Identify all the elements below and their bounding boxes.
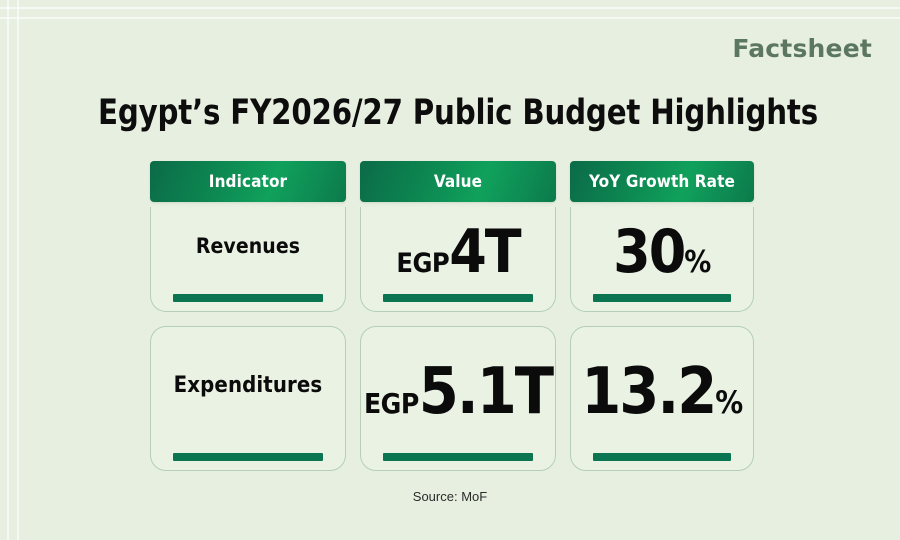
eyebrow-factsheet: Factsheet	[732, 34, 872, 63]
highlights-table: Indicator Value YoY Growth Rate Revenues…	[150, 161, 754, 471]
accent-bar	[593, 294, 731, 302]
accent-bar	[383, 294, 533, 302]
cell-growth-revenues: 30%	[570, 207, 754, 312]
cell-content: EGP5.1T	[364, 360, 552, 438]
decorative-line-top-inner	[0, 17, 900, 19]
growth-suffix: %	[715, 385, 742, 421]
cell-value-revenues: EGP4T	[360, 207, 556, 312]
cell-content: 30%	[613, 222, 711, 296]
accent-bar	[593, 453, 731, 461]
growth-suffix: %	[684, 245, 711, 280]
accent-bar	[383, 453, 533, 461]
value-unit: EGP	[364, 387, 419, 420]
growth-number: 30	[613, 222, 684, 282]
indicator-label: Revenues	[196, 234, 300, 270]
value-unit: EGP	[396, 248, 449, 279]
cell-content: Expenditures	[174, 373, 323, 424]
cell-value-expenditures: EGP5.1T	[360, 326, 556, 471]
table-header-row: Indicator Value YoY Growth Rate	[150, 161, 754, 202]
growth-number: 13.2	[581, 360, 715, 424]
decorative-line-left-outer	[7, 0, 9, 540]
accent-bar	[173, 294, 323, 302]
cell-content: EGP4T	[396, 222, 519, 296]
decorative-line-left-inner	[17, 0, 19, 540]
value-amount: 4T	[449, 222, 519, 282]
column-header-value: Value	[360, 161, 556, 202]
table-row: Revenues EGP4T 30%	[150, 207, 754, 312]
cell-growth-expenditures: 13.2%	[570, 326, 754, 471]
factsheet-canvas: Factsheet Egypt’s FY2026/27 Public Budge…	[0, 0, 900, 540]
cell-indicator-revenues: Revenues	[150, 207, 346, 312]
cell-content: Revenues	[196, 234, 300, 284]
accent-bar	[173, 453, 323, 461]
decorative-line-top-outer	[0, 7, 900, 9]
cell-indicator-expenditures: Expenditures	[150, 326, 346, 471]
cell-content: 13.2%	[581, 360, 743, 438]
table-row: Expenditures EGP5.1T 13.2%	[150, 326, 754, 471]
indicator-label: Expenditures	[174, 373, 323, 410]
source-note: Source: MoF	[0, 489, 900, 504]
column-header-yoy-growth-rate: YoY Growth Rate	[570, 161, 754, 202]
column-header-indicator: Indicator	[150, 161, 346, 202]
value-amount: 5.1T	[419, 360, 552, 424]
page-title: Egypt’s FY2026/27 Public Budget Highligh…	[98, 92, 818, 134]
